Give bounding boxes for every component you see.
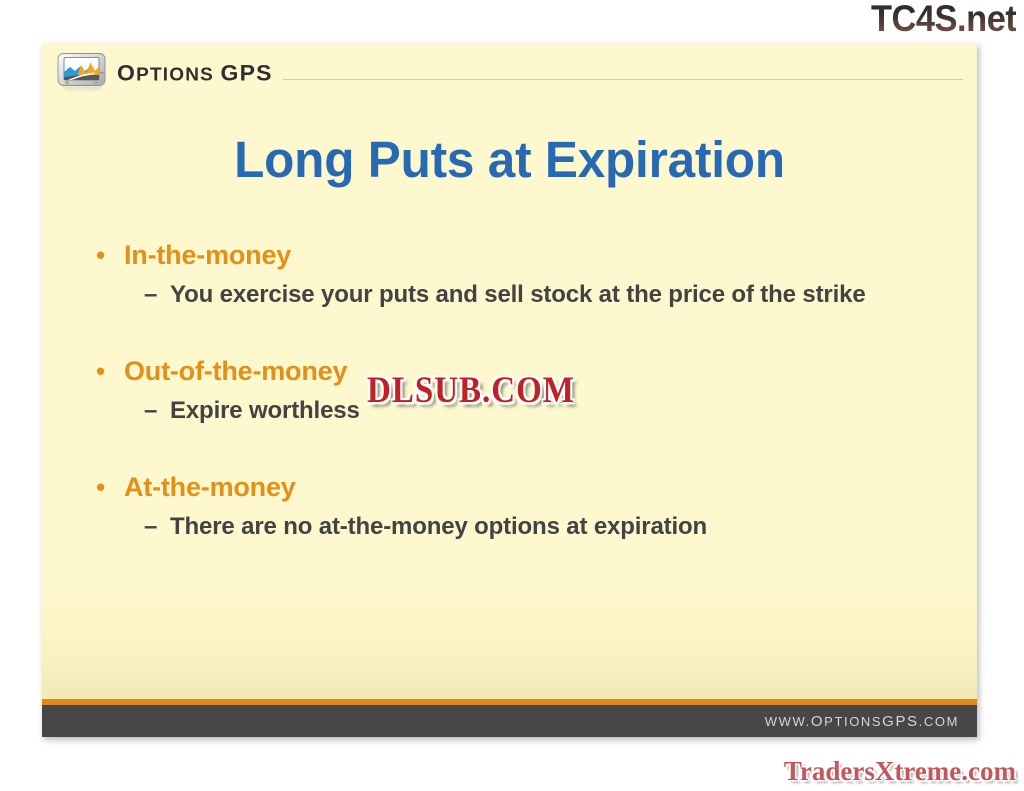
spacer [90,310,947,354]
bullet-item-level1: • At-the-money [90,470,947,504]
tradersxtreme-watermark: TradersXtreme.com [784,755,1016,787]
footer-url-www: www. [765,714,811,729]
slide-header: Options GPS [42,43,977,105]
presentation-slide: Options GPS Long Puts at Expiration • In… [42,43,977,737]
bullet-dot-icon: • [90,238,124,272]
bullet-label: In-the-money [124,238,291,272]
bullet-label: Out-of-the-money [124,354,347,388]
bullet-item-level2: – You exercise your puts and sell stock … [144,279,947,310]
bullet-dot-icon: • [90,354,124,388]
bullet-item-level2: – There are no at-the-money options at e… [144,511,947,542]
footer-website-url: www.OptionsGPS.com [765,713,959,730]
gps-device-icon [56,51,108,95]
spacer [90,426,947,470]
dash-bullet-icon: – [144,395,170,426]
slide-footer: www.OptionsGPS.com [42,699,977,737]
tc4s-watermark: TC4S.net [871,0,1016,40]
brand-initial-o: O [117,60,136,85]
bullet-label: At-the-money [124,470,296,504]
brand-name-gps: GPS [221,60,273,85]
footer-url-gps: GPS [882,713,918,730]
brand-logo: Options GPS [56,51,283,95]
brand-name-rest: ptions [136,65,220,85]
brand-name: Options GPS [117,60,273,86]
dash-bullet-icon: – [144,511,170,542]
dlsub-watermark: DLSUB.COM [367,371,575,411]
dash-bullet-icon: – [144,279,170,310]
footer-url-mid: ptions [824,714,882,729]
bullet-item-level1: • In-the-money [90,238,947,272]
bullet-dot-icon: • [90,470,124,504]
sub-bullet-text: You exercise your puts and sell stock at… [170,279,866,310]
sub-bullet-text: Expire worthless [170,395,360,426]
footer-url-initial-o: O [811,713,824,730]
bullet-group-at-the-money: • At-the-money – There are no at-the-mon… [90,470,947,542]
bullet-group-in-the-money: • In-the-money – You exercise your puts … [90,238,947,310]
slide-title: Long Puts at Expiration [56,131,963,189]
footer-url-tld: .com [919,714,959,729]
sub-bullet-text: There are no at-the-money options at exp… [170,511,707,542]
